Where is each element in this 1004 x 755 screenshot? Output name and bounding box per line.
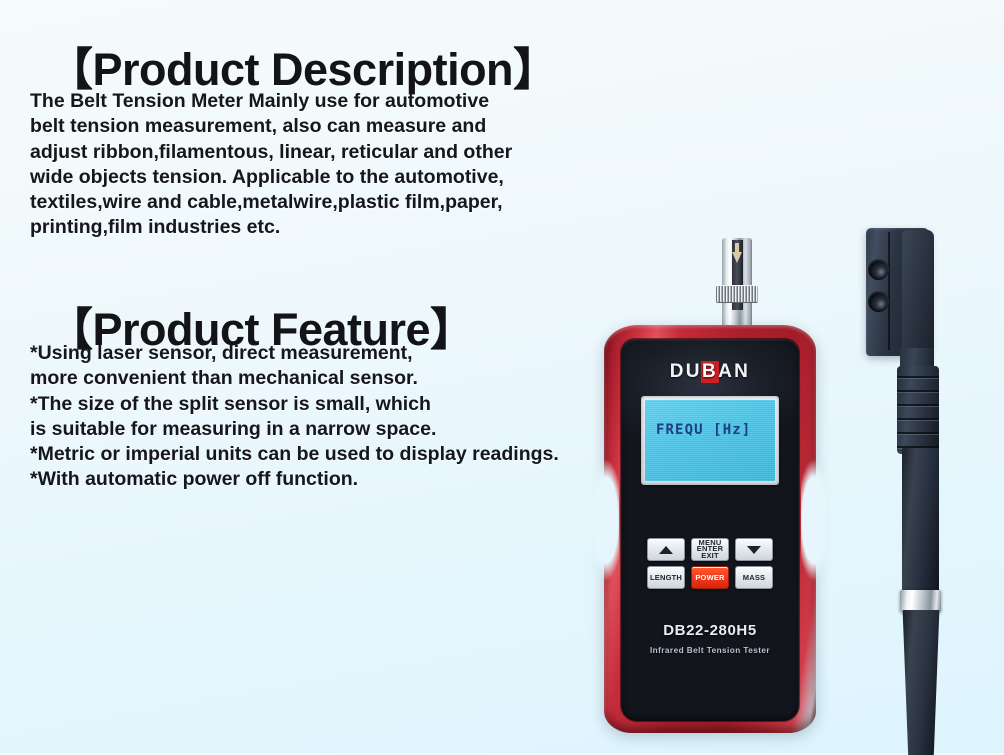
- probe-strain-relief: [897, 366, 939, 454]
- description-line: adjust ribbon,filamentous, linear, retic…: [30, 140, 512, 165]
- brand-prefix: DU: [670, 361, 702, 382]
- probe-cable-upper: [902, 448, 939, 598]
- meter-waist-right: [801, 445, 827, 595]
- up-arrow-button[interactable]: [647, 538, 685, 561]
- meter-waist-left: [593, 445, 619, 595]
- description-line: wide objects tension. Applicable to the …: [30, 165, 512, 190]
- lcd-screen: FREQU [Hz]: [645, 400, 775, 481]
- probe-metal-ferrule: [900, 590, 941, 612]
- lcd-bezel: FREQU [Hz]: [641, 396, 779, 485]
- belt-tension-meter: DUBAN FREQU [Hz] MENUENTEREXIT LENGTH: [604, 325, 816, 733]
- meter-faceplate: DUBAN FREQU [Hz] MENUENTEREXIT LENGTH: [621, 339, 799, 721]
- keypad: MENUENTEREXIT LENGTH POWER MASS: [621, 538, 799, 589]
- receiver-lens-icon: [868, 291, 889, 312]
- down-arrow-icon: [732, 252, 742, 263]
- model-number: DB22-280H5: [621, 622, 799, 639]
- feature-line: *The size of the split sensor is small, …: [30, 392, 559, 417]
- mass-button[interactable]: MASS: [735, 566, 773, 589]
- description-line: The Belt Tension Meter Mainly use for au…: [30, 89, 512, 114]
- description-line: textiles,wire and cable,metalwire,plasti…: [30, 190, 512, 215]
- feature-line: *With automatic power off function.: [30, 467, 559, 492]
- emitter-lens-icon: [868, 259, 889, 280]
- product-description-body: The Belt Tension Meter Mainly use for au…: [30, 89, 512, 241]
- keypad-row-two: LENGTH POWER MASS: [647, 566, 773, 589]
- model-subtitle: Infrared Belt Tension Tester: [621, 646, 799, 655]
- description-line: belt tension measurement, also can measu…: [30, 114, 512, 139]
- power-button[interactable]: POWER: [691, 566, 729, 589]
- down-arrow-button[interactable]: [735, 538, 773, 561]
- exit-label: EXIT: [701, 551, 718, 560]
- brand-suffix: AN: [718, 361, 750, 382]
- feature-line: more convenient than mechanical sensor.: [30, 366, 559, 391]
- brand-logo: DUBAN: [621, 361, 799, 383]
- lcd-reading-text: FREQU [Hz]: [656, 422, 751, 438]
- feature-line: is suitable for measuring in a narrow sp…: [30, 417, 559, 442]
- feature-line: *Metric or imperial units can be used to…: [30, 442, 559, 467]
- infrared-sensor-probe: [858, 228, 998, 753]
- product-feature-body: *Using laser sensor, direct measurement,…: [30, 341, 559, 493]
- probe-head-seam: [888, 232, 890, 350]
- keypad-row-one: MENUENTEREXIT: [647, 538, 773, 561]
- connector-knurled-ring: [716, 285, 758, 303]
- copy-column: 【Product Description】 The Belt Tension M…: [0, 0, 620, 753]
- probe-cable-lower: [901, 610, 941, 755]
- brand-highlight-letter: B: [701, 361, 719, 383]
- menu-enter-exit-button[interactable]: MENUENTEREXIT: [691, 538, 729, 561]
- length-button[interactable]: LENGTH: [647, 566, 685, 589]
- menu-key-labels: MENUENTEREXIT: [697, 540, 723, 560]
- arrow-down-icon: [747, 546, 761, 554]
- feature-line: *Using laser sensor, direct measurement,: [30, 341, 559, 366]
- probe-head-side: [902, 230, 934, 354]
- description-line: printing,film industries etc.: [30, 215, 512, 240]
- arrow-up-icon: [659, 546, 673, 554]
- bnc-connector: [716, 238, 758, 330]
